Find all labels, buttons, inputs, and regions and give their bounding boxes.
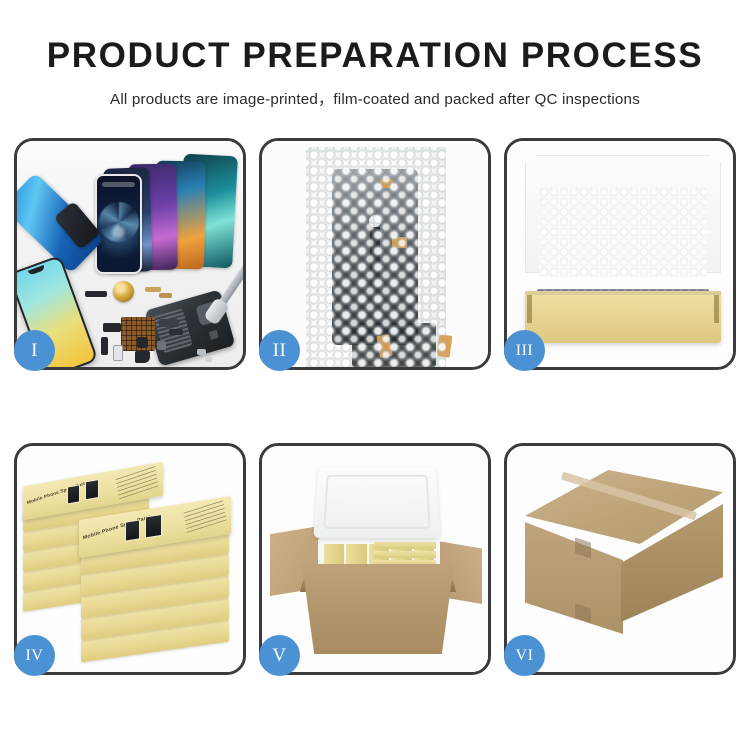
carton-body <box>302 564 454 654</box>
box-stack: Mobile Phone Spare Parts Mobile Phone Sp… <box>17 446 243 672</box>
page-title: PRODUCT PREPARATION PROCESS <box>0 38 750 75</box>
spare-part <box>169 329 183 335</box>
process-step-4: Mobile Phone Spare Parts Mobile Phone Sp… <box>14 443 246 675</box>
step-1-photo <box>17 141 243 367</box>
process-step-5: V <box>259 443 491 675</box>
step-6-photo <box>507 446 733 672</box>
product-preparation-infographic: PRODUCT PREPARATION PROCESS All products… <box>0 0 750 750</box>
spare-part <box>145 287 161 292</box>
process-step-6: VI <box>504 443 736 675</box>
process-step-3: III <box>504 138 736 370</box>
box-phone-image <box>145 514 162 539</box>
screen-protector-glass <box>95 174 142 274</box>
header: PRODUCT PREPARATION PROCESS All products… <box>0 0 750 109</box>
step-3-photo <box>507 141 733 367</box>
screwdriver-icon <box>218 261 243 307</box>
spare-part <box>85 291 107 297</box>
foam-sheet <box>539 187 707 277</box>
step-badge-4: IV <box>14 635 55 676</box>
yellow-box <box>374 542 436 549</box>
process-step-grid: I II <box>14 138 736 675</box>
step-badge-2: II <box>259 330 300 371</box>
box-phone-image <box>85 479 99 500</box>
styrofoam-lid <box>313 467 440 538</box>
phone-blue-tilted <box>17 172 104 273</box>
carton-left-face <box>525 522 623 634</box>
tray-corner <box>714 295 719 323</box>
spare-part <box>101 337 108 355</box>
gold-coil-part <box>113 281 134 302</box>
box-phone-image <box>125 519 140 541</box>
spare-part <box>197 349 206 355</box>
spare-part <box>137 337 148 348</box>
step-badge-1: I <box>14 330 55 371</box>
spare-part <box>113 345 123 361</box>
process-step-2: II <box>259 138 491 370</box>
spare-part <box>159 319 179 327</box>
bubble-texture <box>306 147 446 367</box>
spare-part <box>159 293 172 298</box>
step-badge-5: V <box>259 635 300 676</box>
step-badge-6: VI <box>504 635 545 676</box>
box-spec-lines <box>116 465 159 499</box>
step-4-photo: Mobile Phone Spare Parts Mobile Phone Sp… <box>17 446 243 672</box>
tray-corner <box>527 295 532 323</box>
step-badge-3: III <box>504 330 545 371</box>
step-5-photo <box>262 446 488 672</box>
spare-part <box>205 357 212 362</box>
yellow-box-tray <box>525 291 721 343</box>
spare-part <box>103 323 121 332</box>
bubble-wrap-bag <box>306 147 446 367</box>
box-phone-image <box>67 484 80 504</box>
spare-part <box>157 341 166 350</box>
page-subtitle: All products are image-printed，film-coat… <box>0 87 750 109</box>
spare-part <box>135 351 150 363</box>
box-spec-lines <box>184 499 227 533</box>
yellow-box <box>374 551 436 558</box>
step-2-photo <box>262 141 488 367</box>
process-step-1: I <box>14 138 246 370</box>
box-label-text: Mobile Phone Spare Parts <box>83 514 152 541</box>
